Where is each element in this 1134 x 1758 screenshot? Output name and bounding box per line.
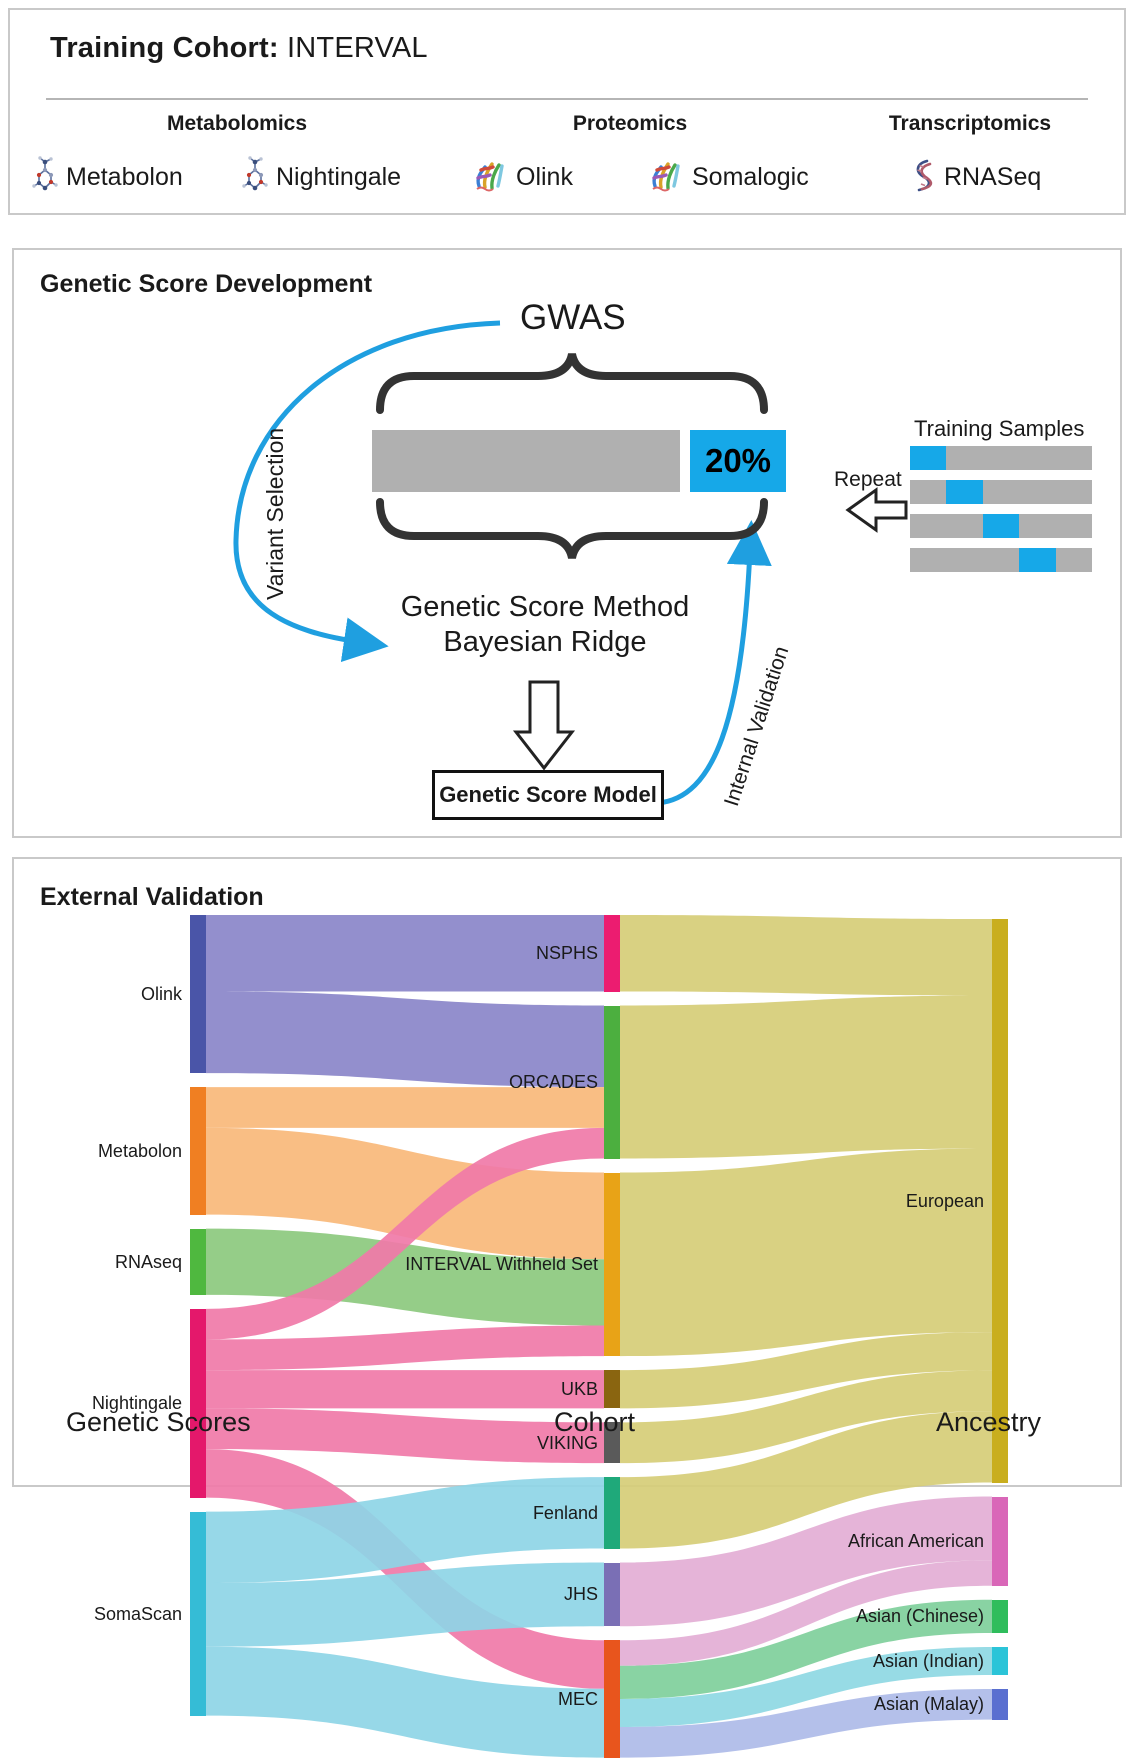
sankey-node-label: Olink bbox=[14, 985, 182, 1003]
genetic-score-development-panel: Genetic Score Development bbox=[12, 248, 1122, 838]
training-cohort-title: Training Cohort: INTERVAL bbox=[50, 32, 428, 65]
method-line-1: Genetic Score Method bbox=[370, 590, 720, 625]
sankey-node-label: African American bbox=[654, 1532, 984, 1550]
omics-group-heading-metabolomics: Metabolomics bbox=[122, 112, 352, 136]
sankey-node-fenland[interactable] bbox=[604, 1477, 620, 1548]
omics-group-heading-transcriptomics: Transcriptomics bbox=[850, 112, 1090, 136]
omics-item-nightingale: Nightingale bbox=[242, 156, 401, 199]
omics-item-label: Somalogic bbox=[692, 163, 809, 192]
sankey-node-nightingale[interactable] bbox=[190, 1309, 206, 1498]
gwas-brace-bottom bbox=[380, 502, 764, 558]
training-sample-bar bbox=[910, 548, 1092, 572]
sankey-node-label: JHS bbox=[274, 1585, 598, 1603]
omics-heading-label: Metabolomics bbox=[122, 112, 352, 136]
sankey-node-ukb[interactable] bbox=[604, 1370, 620, 1408]
training-sample-bar bbox=[910, 446, 1092, 470]
sankey-node-rnaseq[interactable] bbox=[190, 1229, 206, 1295]
sankey-node-label: Fenland bbox=[274, 1504, 598, 1522]
sankey-node-label: MEC bbox=[274, 1690, 598, 1708]
training-cohort-panel: Training Cohort: INTERVAL Metabolomics P… bbox=[8, 8, 1126, 215]
sankey-node-interval[interactable] bbox=[604, 1173, 620, 1357]
sankey-node-olink[interactable] bbox=[190, 915, 206, 1073]
gwas-label: GWAS bbox=[520, 298, 626, 338]
method-to-model-arrow bbox=[516, 682, 572, 768]
training-cohort-title-value: INTERVAL bbox=[287, 32, 428, 64]
sankey-node-asianchinese[interactable] bbox=[992, 1600, 1008, 1633]
sankey-node-metabolon[interactable] bbox=[190, 1087, 206, 1215]
sankey-link bbox=[620, 996, 992, 1159]
sankey-node-africanamerican[interactable] bbox=[992, 1497, 1008, 1586]
sankey-node-label: VIKING bbox=[274, 1434, 598, 1452]
sankey-node-label: UKB bbox=[274, 1380, 598, 1398]
axis-label-genetic-scores: Genetic Scores bbox=[66, 1407, 251, 1438]
dna-helix-icon bbox=[908, 156, 936, 199]
gsd-diagram-overlay bbox=[14, 250, 1124, 840]
protein-ribbon-icon bbox=[648, 156, 684, 199]
omics-heading-label: Transcriptomics bbox=[850, 112, 1090, 136]
figure-root: Training Cohort: INTERVAL Metabolomics P… bbox=[0, 0, 1134, 1497]
training-sample-holdout bbox=[910, 446, 946, 470]
sankey-node-asianmalay[interactable] bbox=[992, 1689, 1008, 1720]
sankey-node-label: Asian (Indian) bbox=[654, 1652, 984, 1670]
sankey-link bbox=[620, 1149, 992, 1357]
training-sample-holdout bbox=[1019, 548, 1055, 572]
sankey-node-nsphs[interactable] bbox=[604, 915, 620, 992]
axis-label-cohort: Cohort bbox=[554, 1407, 635, 1438]
genetic-score-model-box: Genetic Score Model bbox=[432, 770, 664, 820]
method-line-2: Bayesian Ridge bbox=[370, 625, 720, 660]
gwas-variants-bar bbox=[372, 430, 680, 492]
omics-item-label: Olink bbox=[516, 163, 573, 192]
training-sample-holdout bbox=[983, 514, 1019, 538]
holdout-percent-box: 20% bbox=[690, 430, 786, 492]
training-samples-label: Training Samples bbox=[914, 416, 1084, 442]
sankey-node-label: INTERVAL Withheld Set bbox=[274, 1255, 598, 1273]
sankey-node-asianindian[interactable] bbox=[992, 1647, 1008, 1675]
sankey-node-label: ORCADES bbox=[274, 1073, 598, 1091]
genetic-score-method-label: Genetic Score Method Bayesian Ridge bbox=[370, 590, 720, 661]
training-cohort-title-bold: Training Cohort: bbox=[50, 32, 279, 64]
training-sample-bar bbox=[910, 514, 1092, 538]
sankey-node-somascan[interactable] bbox=[190, 1512, 206, 1716]
sankey-link bbox=[620, 915, 992, 996]
sankey-node-label: SomaScan bbox=[14, 1605, 182, 1623]
omics-item-olink: Olink bbox=[472, 156, 573, 199]
omics-item-label: RNASeq bbox=[944, 163, 1041, 192]
sankey-node-orcades[interactable] bbox=[604, 1006, 620, 1159]
omics-item-label: Nightingale bbox=[276, 163, 401, 192]
omics-heading-label: Proteomics bbox=[520, 112, 740, 136]
protein-ribbon-icon bbox=[472, 156, 508, 199]
sankey-node-jhs[interactable] bbox=[604, 1563, 620, 1627]
gwas-brace-top bbox=[380, 354, 764, 410]
training-sample-bar bbox=[910, 480, 1092, 504]
sankey-node-label: NSPHS bbox=[274, 944, 598, 962]
sankey-node-label: Asian (Malay) bbox=[654, 1695, 984, 1713]
sankey-node-european[interactable] bbox=[992, 919, 1008, 1483]
sankey-node-mec[interactable] bbox=[604, 1640, 620, 1757]
axis-label-ancestry: Ancestry bbox=[936, 1407, 1041, 1438]
molecule-icon bbox=[32, 156, 58, 199]
sankey-node-label: European bbox=[654, 1192, 984, 1210]
sankey-node-label: RNAseq bbox=[14, 1253, 182, 1271]
omics-group-heading-proteomics: Proteomics bbox=[520, 112, 740, 136]
sankey-node-label: Metabolon bbox=[14, 1142, 182, 1160]
training-sample-holdout bbox=[946, 480, 982, 504]
external-validation-panel: External Validation OlinkMetabolonRNAseq… bbox=[12, 857, 1122, 1487]
sankey-link bbox=[206, 1087, 604, 1128]
header-divider bbox=[46, 98, 1088, 100]
omics-item-somalogic: Somalogic bbox=[648, 156, 809, 199]
omics-item-rnaseq: RNASeq bbox=[908, 156, 1041, 199]
sankey-node-label: Asian (Chinese) bbox=[654, 1607, 984, 1625]
repeat-label: Repeat bbox=[834, 468, 902, 492]
repeat-arrow bbox=[848, 490, 906, 530]
omics-item-label: Metabolon bbox=[66, 163, 183, 192]
molecule-icon bbox=[242, 156, 268, 199]
omics-item-metabolon: Metabolon bbox=[32, 156, 183, 199]
variant-selection-label: Variant Selection bbox=[262, 428, 289, 600]
